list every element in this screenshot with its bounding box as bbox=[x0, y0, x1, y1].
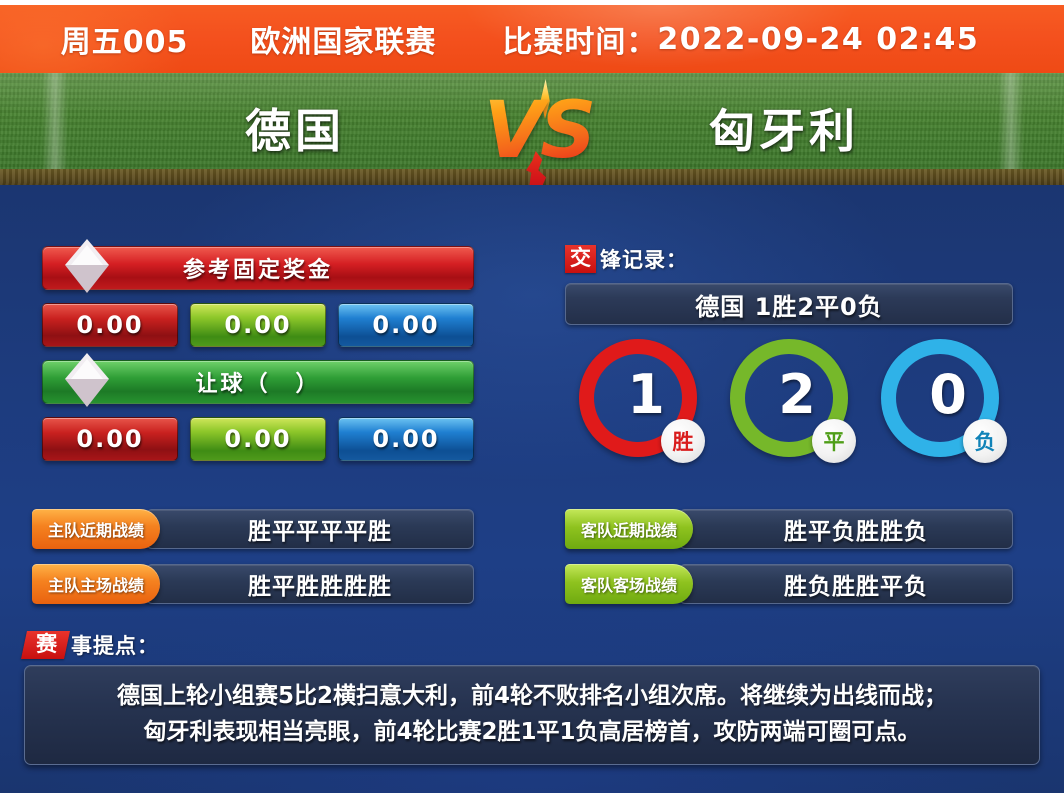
head-to-head-rings: 1 胜 2 平 0 负 bbox=[565, 339, 1013, 489]
home-venue-form-tag-label: 主队主场战绩 bbox=[48, 572, 144, 596]
ring-losses: 0 负 bbox=[881, 339, 999, 457]
ring-draws: 2 平 bbox=[730, 339, 848, 457]
kickoff-time-value: 2022-09-24 02:45 bbox=[657, 22, 979, 57]
handicap-banner-label: 让球（ ） bbox=[195, 366, 320, 398]
header-bar: 周五005 欧洲国家联赛 比赛时间： 2022-09-24 02:45 bbox=[0, 5, 1064, 73]
ring-wins-badge: 胜 bbox=[661, 419, 705, 463]
match-round-label: 周五005 bbox=[61, 17, 189, 61]
home-venue-form-value: 胜平胜胜胜胜 bbox=[146, 564, 474, 604]
diamond-gem-icon-handicap bbox=[65, 353, 109, 409]
ring-draws-badge: 平 bbox=[812, 419, 856, 463]
fixed-odds-row: 0.00 0.00 0.00 bbox=[42, 303, 474, 347]
home-team-name: 德国 bbox=[150, 95, 440, 161]
diamond-gem-icon bbox=[65, 239, 109, 295]
handicap-odds-draw[interactable]: 0.00 bbox=[190, 417, 326, 461]
analysis-line-2: 匈牙利表现相当亮眼，前4轮比赛2胜1平1负高居榜首，攻防两端可圈可点。 bbox=[43, 714, 1021, 750]
league-name-label: 欧洲国家联赛 bbox=[250, 17, 436, 61]
handicap-odds-win[interactable]: 0.00 bbox=[42, 417, 178, 461]
head-to-head-title: 交 锋记录： bbox=[565, 244, 1013, 274]
bottom-white-strip bbox=[0, 793, 1064, 801]
analysis-line-1: 德国上轮小组赛5比2横扫意大利，前4轮不败排名小组次席。将继续为出线而战； bbox=[43, 678, 1021, 714]
head-to-head-summary-panel: 德国 1胜2平0负 bbox=[565, 283, 1013, 325]
head-to-head-panel: 交 锋记录： 德国 1胜2平0负 1 胜 2 平 0 负 bbox=[565, 244, 1013, 489]
header-content: 周五005 欧洲国家联赛 比赛时间： 2022-09-24 02:45 bbox=[61, 17, 979, 61]
away-recent-form-row: 客队近期战绩 胜平负胜胜负 bbox=[565, 508, 1013, 550]
fixed-odds-banner-label: 参考固定奖金 bbox=[183, 252, 333, 284]
ring-losses-badge: 负 bbox=[963, 419, 1007, 463]
home-venue-form-tag: 主队主场战绩 bbox=[32, 564, 160, 604]
handicap-odds-loss[interactable]: 0.00 bbox=[338, 417, 474, 461]
analysis-section: 赛 事提点： 德国上轮小组赛5比2横扫意大利，前4轮不败排名小组次席。将继续为出… bbox=[24, 630, 1040, 765]
away-venue-form-row: 客队客场战绩 胜负胜胜平负 bbox=[565, 563, 1013, 605]
fixed-odds-draw[interactable]: 0.00 bbox=[190, 303, 326, 347]
away-team-name: 匈牙利 bbox=[624, 95, 944, 161]
away-venue-form-value: 胜负胜胜平负 bbox=[679, 564, 1013, 604]
analysis-text-box: 德国上轮小组赛5比2横扫意大利，前4轮不败排名小组次席。将继续为出线而战； 匈牙… bbox=[24, 665, 1040, 765]
fixed-odds-banner: 参考固定奖金 bbox=[42, 246, 474, 290]
home-recent-form-value: 胜平平平平胜 bbox=[146, 509, 474, 549]
pitch-banner: 德国 VS 匈牙利 bbox=[0, 73, 1064, 185]
handicap-odds-row: 0.00 0.00 0.00 bbox=[42, 417, 474, 461]
handicap-banner: 让球（ ） bbox=[42, 360, 474, 404]
away-recent-form-tag: 客队近期战绩 bbox=[565, 509, 693, 549]
head-to-head-title-rest: 锋记录： bbox=[600, 244, 688, 274]
home-recent-form-row: 主队近期战绩 胜平平平平胜 bbox=[32, 508, 474, 550]
home-recent-form-tag: 主队近期战绩 bbox=[32, 509, 160, 549]
analysis-title-chip: 赛 bbox=[21, 631, 70, 659]
odds-panel: 参考固定奖金 0.00 0.00 0.00 让球（ ） 0.00 0.00 0.… bbox=[42, 246, 474, 474]
fixed-odds-win[interactable]: 0.00 bbox=[42, 303, 178, 347]
head-to-head-title-chip: 交 bbox=[565, 245, 596, 273]
head-to-head-summary-text: 德国 1胜2平0负 bbox=[695, 287, 882, 322]
home-venue-form-row: 主队主场战绩 胜平胜胜胜胜 bbox=[32, 563, 474, 605]
analysis-title-rest: 事提点： bbox=[71, 630, 159, 660]
match-preview-graphic: 周五005 欧洲国家联赛 比赛时间： 2022-09-24 02:45 德国 V… bbox=[0, 0, 1064, 801]
away-venue-form-tag: 客队客场战绩 bbox=[565, 564, 693, 604]
away-recent-form-tag-label: 客队近期战绩 bbox=[581, 517, 677, 541]
away-venue-form-tag-label: 客队客场战绩 bbox=[581, 572, 677, 596]
analysis-title: 赛 事提点： bbox=[24, 630, 1040, 660]
fixed-odds-loss[interactable]: 0.00 bbox=[338, 303, 474, 347]
kickoff-time-label: 比赛时间： bbox=[502, 17, 657, 61]
away-recent-form-value: 胜平负胜胜负 bbox=[679, 509, 1013, 549]
home-recent-form-tag-label: 主队近期战绩 bbox=[48, 517, 144, 541]
ring-wins: 1 胜 bbox=[579, 339, 697, 457]
